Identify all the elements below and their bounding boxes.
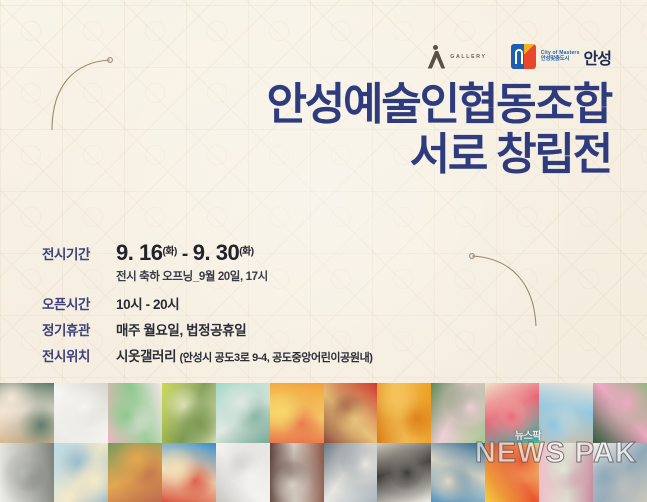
artwork-tile: [0, 383, 54, 443]
info-row-location: 전시위치 시옷갤러리 (안성시 공도3로 9-4, 공도중앙어린이공원내): [42, 345, 562, 365]
gallery-logo: GALLERY: [426, 45, 487, 69]
period-end-date: 9. 30: [193, 240, 239, 265]
decorative-arc-left: [48, 52, 118, 137]
artwork-tile: [270, 443, 324, 502]
artwork-tile: [216, 443, 270, 502]
artwork-tile: [593, 443, 647, 502]
city-logo-korean-sub: 안성맞춤도시: [541, 56, 580, 63]
artwork-tile: [431, 383, 485, 443]
city-logo-korean-main: 안성: [584, 45, 611, 69]
anseong-city-emblem-icon: [511, 44, 536, 69]
period-dash: -: [182, 244, 188, 265]
info-row-hours: 오픈시간 10시 - 20시: [42, 293, 562, 313]
city-logo-subtext: City of Masters 안성맞춤도시: [541, 50, 580, 63]
info-value-hours: 10시 - 20시: [116, 293, 179, 313]
info-label-location: 전시위치: [42, 345, 104, 365]
location-venue-name: 시옷갤러리: [116, 349, 176, 364]
info-row-closed-days: 정기휴관 매주 월요일, 법정공휴일: [42, 319, 562, 339]
period-start-weekday: (화): [162, 247, 176, 258]
period-end-weekday: (화): [239, 247, 253, 258]
poster-title: 안성예술인협동조합 서로 창립전: [266, 80, 611, 180]
location-address-detail: (안성시 공도3로 9-4, 공도중앙어린이공원내): [179, 352, 372, 364]
opening-event-note: 전시 축하 오프닝_9월 20일, 17시: [116, 268, 562, 284]
artwork-tile: [216, 383, 270, 443]
poster-title-line-1: 안성예술인협동조합: [266, 80, 611, 130]
artwork-tile: [270, 383, 324, 443]
info-value-period: 9. 16(화)-9. 30(화): [116, 240, 254, 266]
artwork-tile: [54, 443, 108, 502]
artwork-tile: [539, 383, 593, 443]
artwork-tile: [324, 383, 378, 443]
person-figure-icon: [426, 45, 445, 69]
artwork-tile: [539, 443, 593, 502]
poster-title-line-2: 서로 창립전: [266, 130, 611, 180]
artwork-tile: [431, 443, 485, 502]
artwork-thumbnail-strip: [0, 383, 647, 502]
info-label-hours: 오픈시간: [42, 293, 104, 313]
artwork-tile: [377, 443, 431, 502]
info-value-location: 시옷갤러리 (안성시 공도3로 9-4, 공도중앙어린이공원내): [116, 345, 373, 365]
logo-row: GALLERY City of Masters 안성맞춤도시 안성: [426, 44, 611, 69]
gallery-wordmark: GALLERY: [450, 54, 487, 60]
artwork-tile: [162, 383, 216, 443]
period-start-date: 9. 16: [116, 240, 162, 265]
artwork-tile: [593, 383, 647, 443]
artwork-tile: [162, 443, 216, 502]
info-value-closed-days: 매주 월요일, 법정공휴일: [116, 319, 246, 339]
artwork-tile: [108, 443, 162, 502]
artwork-tile: [485, 443, 539, 502]
info-label-period: 전시기간: [42, 243, 104, 263]
exhibition-info-block: 전시기간 9. 16(화)-9. 30(화) 전시 축하 오프닝_9월 20일,…: [42, 240, 562, 371]
artwork-tile: [54, 383, 108, 443]
info-row-period: 전시기간 9. 16(화)-9. 30(화): [42, 240, 562, 266]
artwork-tile: [108, 383, 162, 443]
anseong-city-logo: City of Masters 안성맞춤도시 안성: [511, 44, 611, 69]
artwork-tile: [485, 383, 539, 443]
artwork-tile: [0, 443, 54, 502]
info-label-closed-days: 정기휴관: [42, 319, 104, 339]
artwork-tile: [324, 443, 378, 502]
city-logo-text: City of Masters 안성맞춤도시 안성: [541, 45, 611, 69]
exhibition-poster: GALLERY City of Masters 안성맞춤도시 안성 안성예술인협…: [0, 0, 647, 502]
artwork-tile: [377, 383, 431, 443]
